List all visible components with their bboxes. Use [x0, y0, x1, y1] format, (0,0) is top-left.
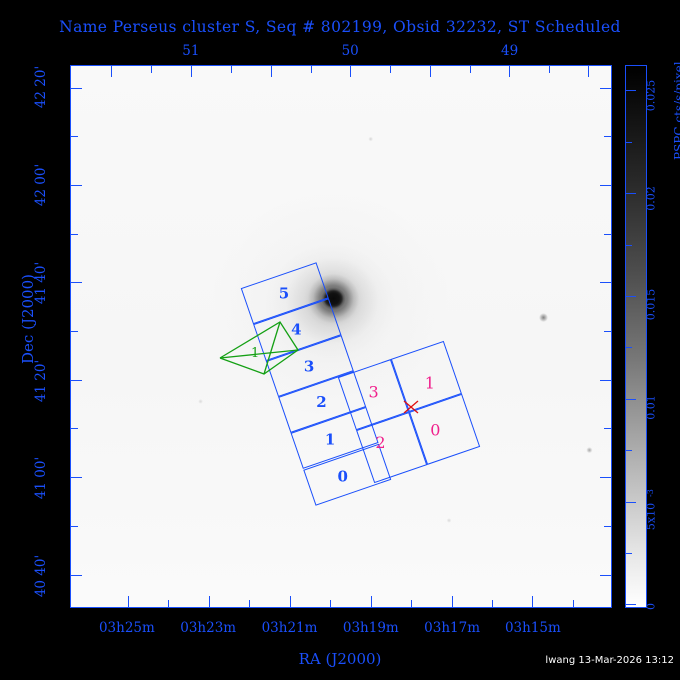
- left-tick-label-5: 40 40': [0, 568, 62, 584]
- sky-plot-frame[interactable]: 5 4 3 2 1 0 1 3 1 2 0 Green denotes pres…: [70, 65, 612, 608]
- colorbar-tick-label-2: 0.01: [651, 401, 676, 414]
- acis-s-chip-label-1: 1: [325, 430, 335, 448]
- acis-i-chip-label-2: 2: [375, 433, 385, 452]
- bottom-tick-label-5: 03h15m: [505, 620, 561, 636]
- optional-chip-order-label: 1: [251, 346, 259, 361]
- left-tick-label-4: 41 00': [0, 470, 62, 486]
- page-title: Name Perseus cluster S, Seq # 802199, Ob…: [0, 18, 680, 36]
- optional-chip-order-marks: [216, 306, 326, 386]
- render-stamp: lwang 13-Mar-2026 13:12: [545, 655, 674, 666]
- acis-i-chip-label-0: 0: [430, 420, 440, 439]
- colorbar-tick-label-1: 5x10: [651, 510, 678, 523]
- colorbar-tick-label-4: 0.02: [651, 192, 676, 205]
- bottom-tick-label-2: 03h21m: [262, 620, 318, 636]
- bottom-tick-label-3: 03h19m: [343, 620, 399, 636]
- colorbar-title: PSPC cts/s/pixel: [672, 61, 680, 160]
- y-axis-title: Dec (J2000): [19, 229, 37, 409]
- bottom-tick-label-0: 03h25m: [99, 620, 155, 636]
- acis-i-chip-label-1: 1: [425, 374, 435, 393]
- acis-i-chip-label-3: 3: [369, 382, 379, 401]
- top-tick-label-0: 51: [182, 43, 199, 59]
- left-tick-label-0: 42 20': [0, 79, 62, 95]
- aimpoint-marker-icon: [401, 397, 421, 417]
- colorbar-tick-exponent: -3: [646, 489, 655, 497]
- left-tick-label-1: 42 00': [0, 177, 62, 193]
- acis-s-chip-label-5: 5: [279, 284, 289, 302]
- acis-s-chip-label-0: 0: [338, 467, 348, 485]
- top-tick-label-2: 49: [501, 43, 518, 59]
- top-tick-label-1: 50: [342, 43, 359, 59]
- colorbar-tick-label-3: 0.015: [651, 298, 680, 311]
- bottom-tick-label-1: 03h23m: [180, 620, 236, 636]
- bottom-tick-label-4: 03h17m: [424, 620, 480, 636]
- acis-s-chip-label-2: 2: [316, 393, 326, 411]
- colorbar-tick-label-0: 0: [651, 600, 658, 613]
